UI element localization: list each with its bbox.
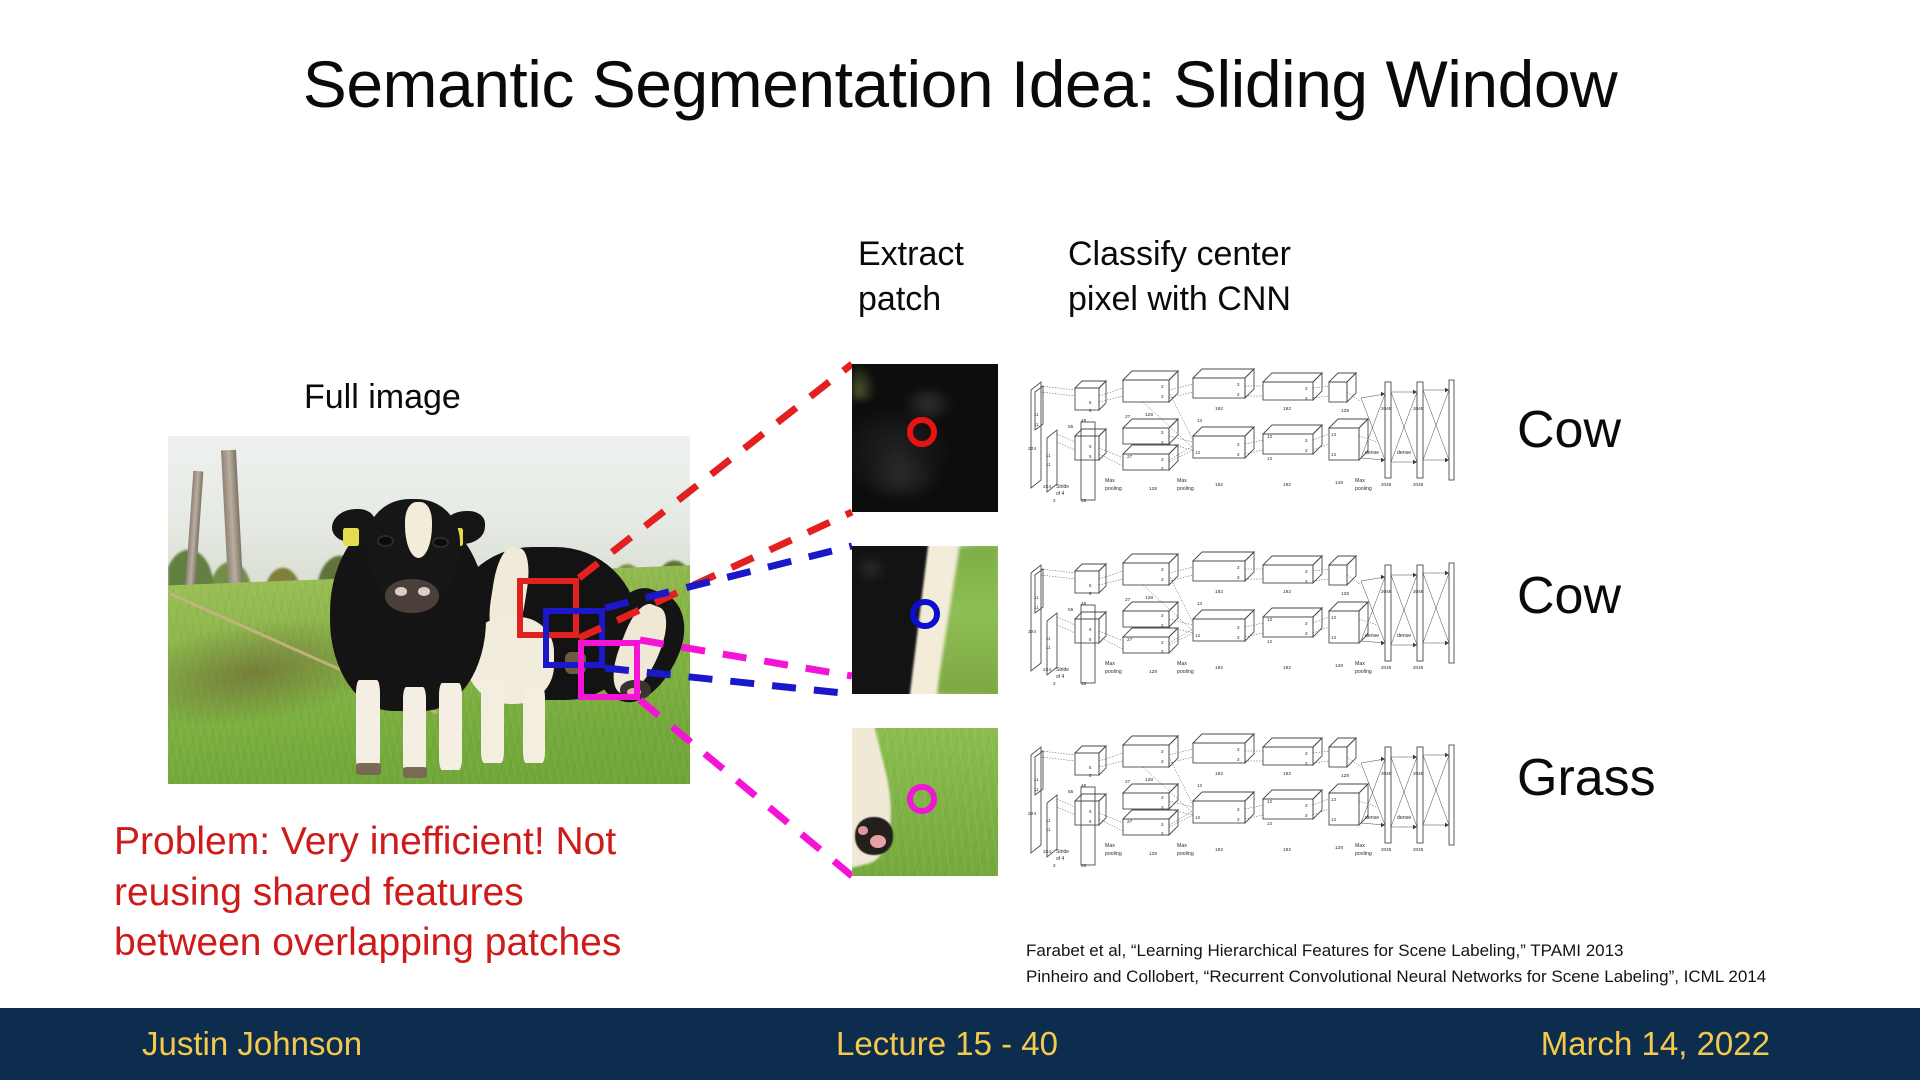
footer-lecture: Lecture 15 - 40 bbox=[836, 1025, 1058, 1062]
svg-text:Max: Max bbox=[1177, 478, 1187, 484]
svg-text:5: 5 bbox=[1089, 809, 1092, 814]
svg-text:Stride: Stride bbox=[1056, 667, 1069, 673]
svg-text:192: 192 bbox=[1215, 482, 1223, 488]
svg-text:192: 192 bbox=[1215, 406, 1223, 412]
svg-text:11: 11 bbox=[1034, 595, 1039, 600]
svg-text:Max: Max bbox=[1105, 843, 1115, 849]
svg-text:3: 3 bbox=[1237, 392, 1240, 397]
svg-text:3: 3 bbox=[1161, 577, 1164, 582]
svg-text:3: 3 bbox=[1161, 430, 1164, 435]
svg-text:Max: Max bbox=[1177, 843, 1187, 849]
svg-text:pooling: pooling bbox=[1355, 669, 1372, 675]
svg-text:55: 55 bbox=[1068, 789, 1074, 795]
extract-patch-line-2: patch bbox=[858, 277, 1038, 322]
svg-text:dense: dense bbox=[1365, 450, 1379, 456]
svg-text:3: 3 bbox=[1161, 795, 1164, 800]
svg-text:13: 13 bbox=[1195, 815, 1200, 820]
svg-text:3: 3 bbox=[1161, 759, 1164, 764]
svg-text:3: 3 bbox=[1161, 384, 1164, 389]
column-header-classify-cnn: Classify center pixel with CNN bbox=[1068, 232, 1398, 322]
extract-patch-line-1: Extract bbox=[858, 232, 1038, 277]
svg-text:dense: dense bbox=[1365, 815, 1379, 821]
svg-text:192: 192 bbox=[1215, 847, 1223, 853]
svg-text:5: 5 bbox=[1089, 765, 1092, 770]
svg-text:2048: 2048 bbox=[1381, 665, 1392, 670]
svg-text:2048: 2048 bbox=[1413, 665, 1424, 670]
svg-text:192: 192 bbox=[1283, 665, 1291, 671]
svg-text:128: 128 bbox=[1149, 669, 1157, 675]
svg-text:48: 48 bbox=[1081, 601, 1087, 607]
full-image-label: Full image bbox=[304, 378, 461, 417]
problem-note-line-2: reusing shared features bbox=[114, 868, 754, 919]
svg-text:3: 3 bbox=[1161, 457, 1164, 462]
center-pixel-marker-red bbox=[907, 417, 936, 447]
svg-text:13: 13 bbox=[1331, 635, 1336, 640]
svg-text:3: 3 bbox=[1161, 567, 1164, 572]
svg-text:13: 13 bbox=[1331, 797, 1336, 802]
citations: Farabet et al, “Learning Hierarchical Fe… bbox=[1026, 938, 1766, 990]
svg-text:192: 192 bbox=[1283, 482, 1291, 488]
problem-note: Problem: Very inefficient! Not reusing s… bbox=[114, 817, 754, 969]
svg-text:13: 13 bbox=[1267, 799, 1272, 804]
svg-text:3: 3 bbox=[1305, 751, 1308, 756]
svg-text:dense: dense bbox=[1397, 450, 1411, 456]
svg-text:5: 5 bbox=[1089, 444, 1092, 449]
svg-text:3: 3 bbox=[1237, 817, 1240, 822]
svg-text:Max: Max bbox=[1105, 661, 1115, 667]
cnn-architecture-diagram-1: 111122411112243Strideof 4485548555512827… bbox=[1025, 362, 1465, 514]
svg-text:13: 13 bbox=[1267, 456, 1272, 461]
patch-3-nostril bbox=[858, 826, 868, 835]
svg-text:3: 3 bbox=[1237, 442, 1240, 447]
svg-text:2048: 2048 bbox=[1381, 589, 1392, 594]
svg-text:of 4: of 4 bbox=[1056, 491, 1065, 497]
svg-text:2048: 2048 bbox=[1413, 482, 1424, 487]
svg-text:3: 3 bbox=[1053, 863, 1056, 868]
svg-text:55: 55 bbox=[1068, 424, 1074, 430]
cnn-architecture-diagram-2: 111122411112243Strideof 4485548555512827… bbox=[1025, 545, 1465, 697]
svg-text:13: 13 bbox=[1197, 601, 1202, 606]
svg-text:5: 5 bbox=[1089, 637, 1092, 642]
patch-3-mouth bbox=[870, 835, 886, 848]
svg-text:pooling: pooling bbox=[1355, 851, 1372, 857]
svg-text:2048: 2048 bbox=[1381, 847, 1392, 852]
svg-text:of 4: of 4 bbox=[1056, 856, 1065, 862]
cow-front-nostril bbox=[418, 587, 430, 595]
problem-note-line-1: Problem: Very inefficient! Not bbox=[114, 817, 754, 868]
svg-text:11: 11 bbox=[1034, 422, 1039, 427]
cow-front-hoof bbox=[356, 763, 381, 775]
cow-front-nostril bbox=[395, 587, 407, 595]
prediction-label-3: Grass bbox=[1517, 748, 1656, 808]
svg-text:13: 13 bbox=[1267, 639, 1272, 644]
svg-text:11: 11 bbox=[1046, 818, 1051, 823]
svg-text:3: 3 bbox=[1237, 625, 1240, 630]
svg-text:192: 192 bbox=[1283, 406, 1291, 412]
svg-text:128: 128 bbox=[1341, 408, 1349, 414]
svg-text:128: 128 bbox=[1145, 777, 1153, 783]
svg-text:3: 3 bbox=[1053, 498, 1056, 503]
svg-text:3: 3 bbox=[1305, 438, 1308, 443]
svg-text:128: 128 bbox=[1335, 663, 1343, 669]
svg-text:5: 5 bbox=[1089, 819, 1092, 824]
svg-text:3: 3 bbox=[1161, 822, 1164, 827]
svg-text:3: 3 bbox=[1161, 394, 1164, 399]
svg-text:3: 3 bbox=[1305, 621, 1308, 626]
svg-text:128: 128 bbox=[1335, 845, 1343, 851]
slide-canvas: Semantic Segmentation Idea: Sliding Wind… bbox=[0, 0, 1920, 1080]
footer-author-wrap: Justin Johnson bbox=[142, 1025, 362, 1063]
problem-note-line-3: between overlapping patches bbox=[114, 918, 754, 969]
svg-text:48: 48 bbox=[1081, 783, 1087, 789]
patch-1-shadow bbox=[864, 453, 940, 503]
svg-text:11: 11 bbox=[1046, 462, 1051, 467]
cow-front-eye-left bbox=[379, 537, 392, 545]
svg-text:13: 13 bbox=[1197, 783, 1202, 788]
svg-text:48: 48 bbox=[1081, 863, 1087, 869]
svg-text:3: 3 bbox=[1237, 382, 1240, 387]
svg-text:3: 3 bbox=[1161, 640, 1164, 645]
svg-text:pooling: pooling bbox=[1105, 486, 1122, 492]
svg-text:Max: Max bbox=[1355, 661, 1365, 667]
svg-text:128: 128 bbox=[1145, 412, 1153, 418]
citation-1: Farabet et al, “Learning Hierarchical Fe… bbox=[1026, 938, 1766, 964]
svg-text:2048: 2048 bbox=[1413, 589, 1424, 594]
svg-text:11: 11 bbox=[1034, 605, 1039, 610]
svg-text:13: 13 bbox=[1331, 432, 1336, 437]
svg-text:2048: 2048 bbox=[1381, 771, 1392, 776]
footer-date-wrap: March 14, 2022 bbox=[1541, 1025, 1770, 1063]
svg-text:5: 5 bbox=[1089, 583, 1092, 588]
svg-text:pooling: pooling bbox=[1177, 669, 1194, 675]
svg-text:192: 192 bbox=[1283, 771, 1291, 777]
extracted-patch-1[interactable] bbox=[852, 364, 998, 512]
svg-text:3: 3 bbox=[1305, 803, 1308, 808]
svg-text:of 4: of 4 bbox=[1056, 674, 1065, 680]
svg-text:5: 5 bbox=[1089, 400, 1092, 405]
svg-text:3: 3 bbox=[1237, 757, 1240, 762]
svg-text:27: 27 bbox=[1125, 779, 1131, 785]
svg-text:128: 128 bbox=[1145, 595, 1153, 601]
svg-text:Stride: Stride bbox=[1056, 849, 1069, 855]
svg-text:48: 48 bbox=[1081, 681, 1087, 687]
svg-text:27: 27 bbox=[1127, 819, 1133, 825]
svg-text:pooling: pooling bbox=[1105, 851, 1122, 857]
svg-text:3: 3 bbox=[1237, 747, 1240, 752]
svg-text:Max: Max bbox=[1355, 843, 1365, 849]
svg-text:3: 3 bbox=[1305, 448, 1308, 453]
footer-author: Justin Johnson bbox=[142, 1025, 362, 1062]
svg-text:5: 5 bbox=[1089, 454, 1092, 459]
svg-text:27: 27 bbox=[1125, 414, 1131, 420]
cow-front-hoof bbox=[403, 767, 427, 778]
footer-lecture-wrap: Lecture 15 - 40 bbox=[836, 1025, 1058, 1063]
svg-text:224: 224 bbox=[1043, 484, 1051, 490]
cow-front-leg bbox=[403, 687, 426, 774]
svg-text:2048: 2048 bbox=[1413, 771, 1424, 776]
svg-text:Max: Max bbox=[1105, 478, 1115, 484]
svg-text:192: 192 bbox=[1215, 589, 1223, 595]
cnn-architecture-diagram-3: 111122411112243Strideof 4485548555512827… bbox=[1025, 727, 1465, 879]
footer-date: March 14, 2022 bbox=[1541, 1025, 1770, 1062]
svg-text:55: 55 bbox=[1068, 607, 1074, 613]
svg-text:224: 224 bbox=[1028, 629, 1036, 635]
cow-rear-leg bbox=[523, 687, 545, 764]
svg-text:5: 5 bbox=[1089, 627, 1092, 632]
svg-text:3: 3 bbox=[1237, 565, 1240, 570]
svg-text:3: 3 bbox=[1237, 452, 1240, 457]
svg-text:5: 5 bbox=[1089, 408, 1092, 413]
cow-front-leg bbox=[356, 680, 380, 770]
svg-text:11: 11 bbox=[1034, 777, 1039, 782]
svg-text:11: 11 bbox=[1046, 636, 1051, 641]
svg-text:192: 192 bbox=[1215, 771, 1223, 777]
slide-footer: Justin Johnson Lecture 15 - 40 March 14,… bbox=[0, 1008, 1920, 1080]
svg-text:27: 27 bbox=[1127, 637, 1133, 643]
svg-text:13: 13 bbox=[1195, 450, 1200, 455]
patch-2-shading bbox=[855, 555, 887, 582]
svg-text:3: 3 bbox=[1305, 386, 1308, 391]
cow-rear-leg bbox=[481, 680, 504, 764]
classify-line-2: pixel with CNN bbox=[1068, 277, 1398, 322]
svg-text:3: 3 bbox=[1237, 635, 1240, 640]
svg-text:5: 5 bbox=[1089, 591, 1092, 596]
svg-text:13: 13 bbox=[1267, 434, 1272, 439]
svg-text:2048: 2048 bbox=[1381, 406, 1392, 411]
extracted-patch-3[interactable] bbox=[852, 728, 998, 876]
svg-text:3: 3 bbox=[1305, 631, 1308, 636]
svg-text:pooling: pooling bbox=[1177, 486, 1194, 492]
svg-text:dense: dense bbox=[1397, 633, 1411, 639]
svg-text:13: 13 bbox=[1331, 615, 1336, 620]
svg-text:13: 13 bbox=[1331, 452, 1336, 457]
svg-text:2048: 2048 bbox=[1381, 482, 1392, 487]
sliding-window-box-magenta[interactable] bbox=[578, 640, 640, 700]
svg-text:3: 3 bbox=[1237, 575, 1240, 580]
svg-text:Stride: Stride bbox=[1056, 484, 1069, 490]
svg-text:Max: Max bbox=[1177, 661, 1187, 667]
svg-text:27: 27 bbox=[1127, 454, 1133, 460]
svg-text:128: 128 bbox=[1335, 480, 1343, 486]
svg-text:2048: 2048 bbox=[1413, 847, 1424, 852]
prediction-label-2: Cow bbox=[1517, 566, 1621, 626]
svg-text:11: 11 bbox=[1034, 412, 1039, 417]
cow-front-leg bbox=[439, 683, 462, 770]
classify-line-1: Classify center bbox=[1068, 232, 1398, 277]
svg-text:pooling: pooling bbox=[1355, 486, 1372, 492]
svg-text:11: 11 bbox=[1034, 787, 1039, 792]
svg-text:Max: Max bbox=[1355, 478, 1365, 484]
svg-text:13: 13 bbox=[1331, 817, 1336, 822]
svg-text:dense: dense bbox=[1365, 633, 1379, 639]
svg-text:13: 13 bbox=[1197, 418, 1202, 423]
svg-text:3: 3 bbox=[1305, 813, 1308, 818]
svg-text:224: 224 bbox=[1028, 446, 1036, 452]
svg-text:224: 224 bbox=[1043, 849, 1051, 855]
cow-front-ear-tag-left bbox=[343, 528, 359, 545]
svg-text:3: 3 bbox=[1305, 569, 1308, 574]
svg-text:11: 11 bbox=[1046, 827, 1051, 832]
center-pixel-marker-blue bbox=[910, 599, 939, 629]
svg-text:128: 128 bbox=[1149, 486, 1157, 492]
svg-text:13: 13 bbox=[1267, 617, 1272, 622]
svg-text:192: 192 bbox=[1215, 665, 1223, 671]
svg-text:128: 128 bbox=[1341, 773, 1349, 779]
svg-text:3: 3 bbox=[1053, 681, 1056, 686]
svg-text:128: 128 bbox=[1149, 851, 1157, 857]
svg-text:192: 192 bbox=[1283, 589, 1291, 595]
svg-text:192: 192 bbox=[1283, 847, 1291, 853]
citation-2: Pinheiro and Collobert, “Recurrent Convo… bbox=[1026, 964, 1766, 990]
svg-text:3: 3 bbox=[1237, 807, 1240, 812]
svg-text:224: 224 bbox=[1043, 667, 1051, 673]
center-pixel-marker-magenta bbox=[907, 784, 936, 814]
extracted-patch-2[interactable] bbox=[852, 546, 998, 694]
svg-text:5: 5 bbox=[1089, 773, 1092, 778]
svg-text:11: 11 bbox=[1046, 453, 1051, 458]
svg-text:27: 27 bbox=[1125, 597, 1131, 603]
svg-text:pooling: pooling bbox=[1177, 851, 1194, 857]
patch-1-grass-corner bbox=[852, 364, 875, 400]
svg-text:3: 3 bbox=[1161, 613, 1164, 618]
column-header-extract-patch: Extract patch bbox=[858, 232, 1038, 322]
svg-text:48: 48 bbox=[1081, 498, 1087, 504]
svg-text:3: 3 bbox=[1161, 749, 1164, 754]
svg-text:11: 11 bbox=[1046, 645, 1051, 650]
full-image-photo bbox=[168, 436, 690, 784]
svg-text:48: 48 bbox=[1081, 418, 1087, 424]
svg-text:pooling: pooling bbox=[1105, 669, 1122, 675]
svg-text:224: 224 bbox=[1028, 811, 1036, 817]
svg-text:2048: 2048 bbox=[1413, 406, 1424, 411]
page-title: Semantic Segmentation Idea: Sliding Wind… bbox=[0, 48, 1920, 121]
svg-text:dense: dense bbox=[1397, 815, 1411, 821]
prediction-label-1: Cow bbox=[1517, 400, 1621, 460]
svg-text:13: 13 bbox=[1195, 633, 1200, 638]
svg-text:128: 128 bbox=[1341, 591, 1349, 597]
svg-text:13: 13 bbox=[1267, 821, 1272, 826]
cow-front-eye-right bbox=[434, 539, 447, 547]
